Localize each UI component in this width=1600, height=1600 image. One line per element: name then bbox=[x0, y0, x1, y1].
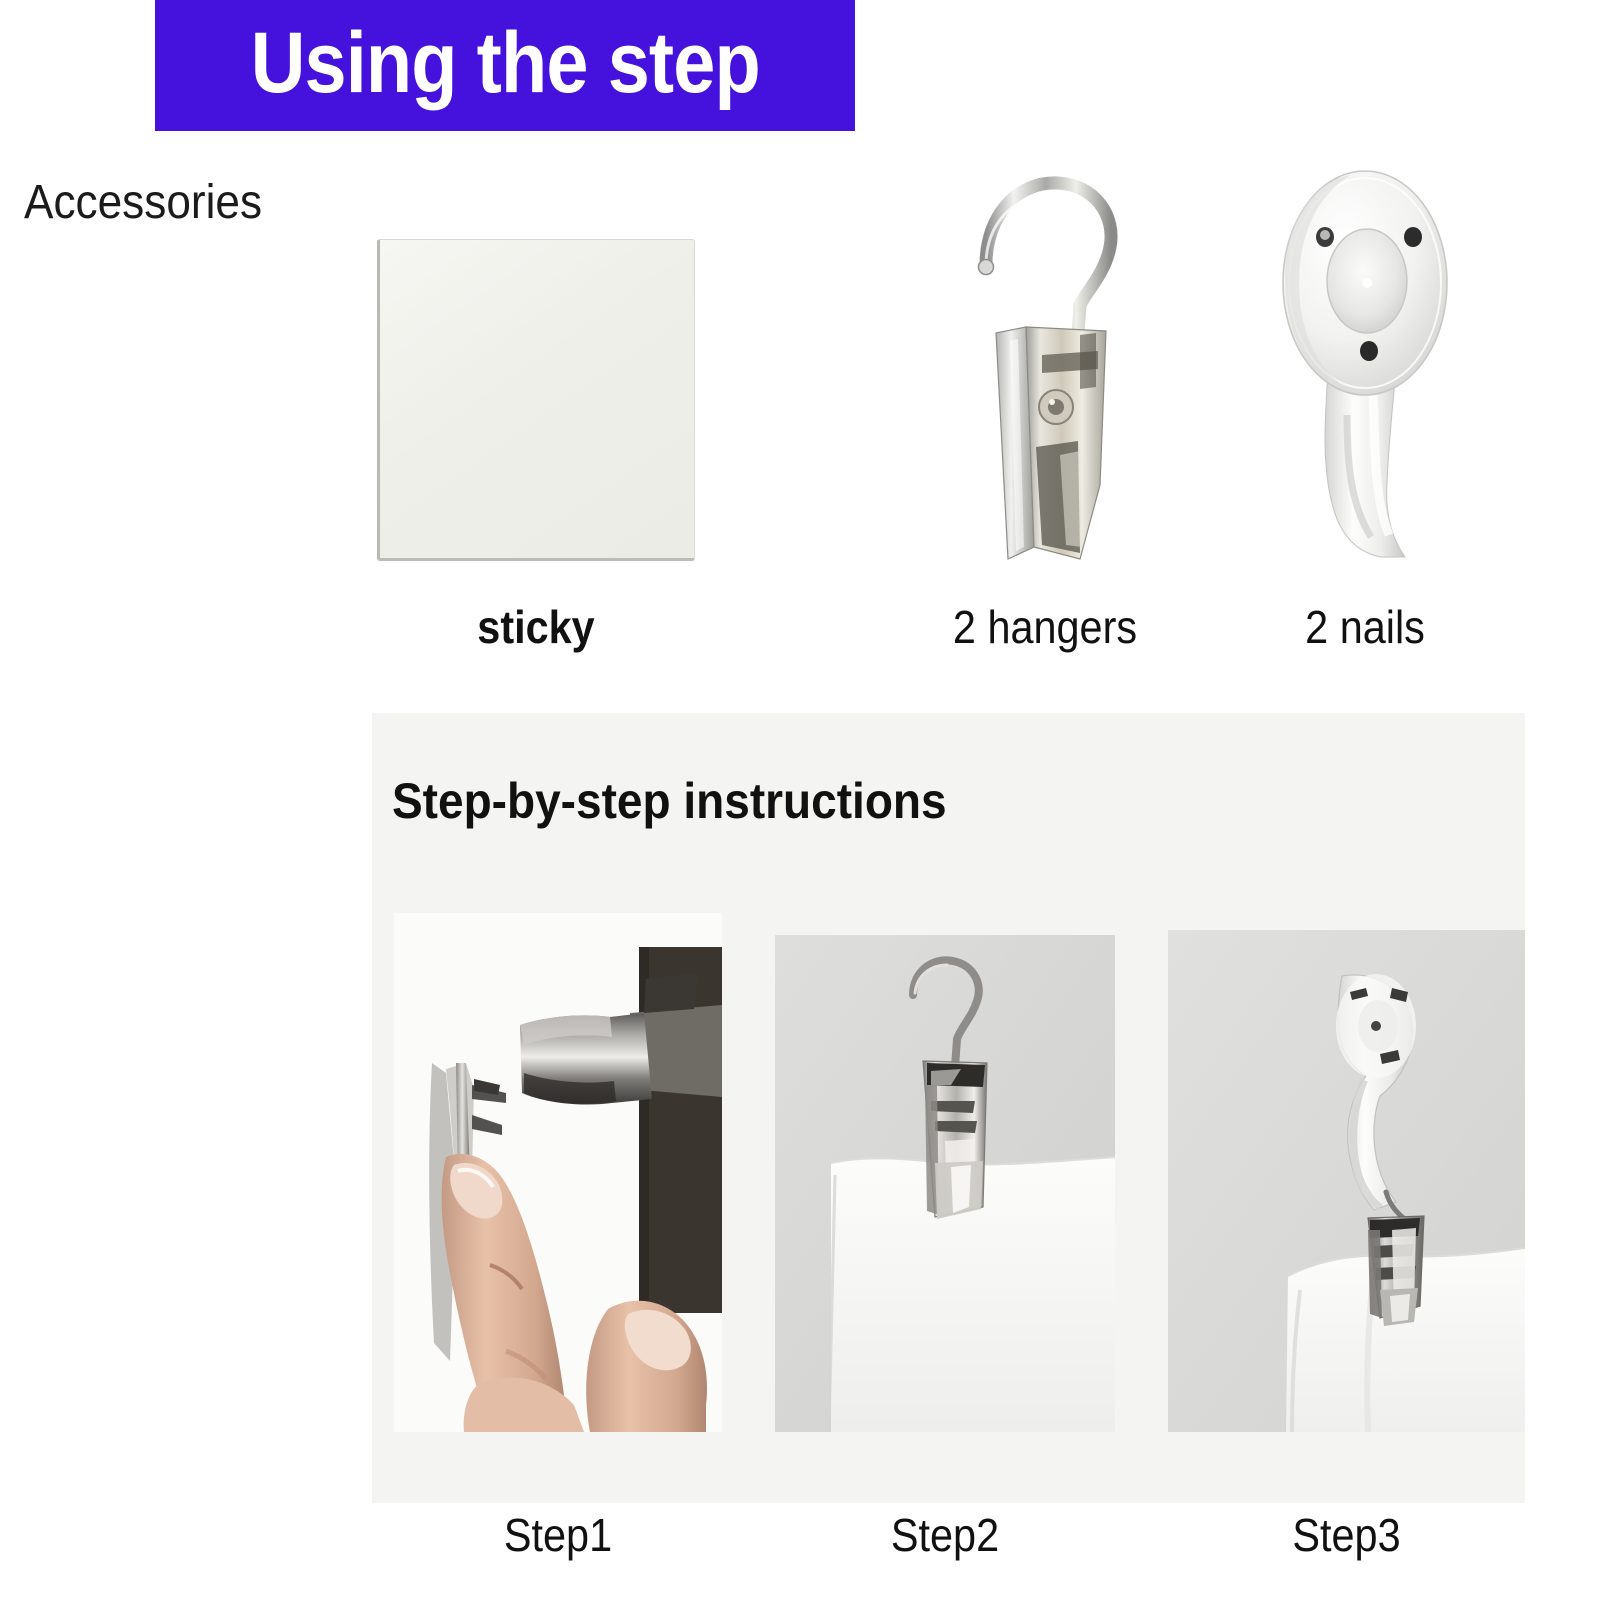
clip-gripping-fabric-photo bbox=[775, 935, 1115, 1432]
accessory-label-nails: 2 nails bbox=[1239, 600, 1491, 654]
accessory-label-hangers: 2 hangers bbox=[897, 600, 1194, 654]
hammering-nail-into-wall-photo bbox=[394, 913, 722, 1432]
title-banner: Using the step bbox=[155, 0, 855, 131]
hanger-clip-icon bbox=[930, 155, 1160, 565]
step1-photo bbox=[394, 913, 722, 1432]
step3-photo bbox=[1168, 930, 1525, 1432]
instructions-heading: Step-by-step instructions bbox=[392, 772, 947, 830]
accessories-heading: Accessories bbox=[24, 175, 262, 230]
accessory-label-sticky: sticky bbox=[393, 600, 679, 654]
step-label-3: Step3 bbox=[1186, 1508, 1507, 1562]
hook-mounted-with-clip-photo bbox=[1168, 930, 1525, 1432]
product-instruction-infographic: Using the step Accessories bbox=[0, 0, 1600, 1600]
page-title: Using the step bbox=[250, 20, 759, 112]
sticky-pad-icon bbox=[377, 239, 695, 561]
accessory-nail-image bbox=[1255, 165, 1475, 565]
step2-photo bbox=[775, 935, 1115, 1432]
nail-hook-icon bbox=[1255, 165, 1475, 565]
accessory-hanger-image bbox=[930, 155, 1160, 565]
step-label-2: Step2 bbox=[792, 1508, 1098, 1562]
accessory-sticky-image bbox=[377, 239, 695, 561]
step-label-1: Step1 bbox=[410, 1508, 705, 1562]
